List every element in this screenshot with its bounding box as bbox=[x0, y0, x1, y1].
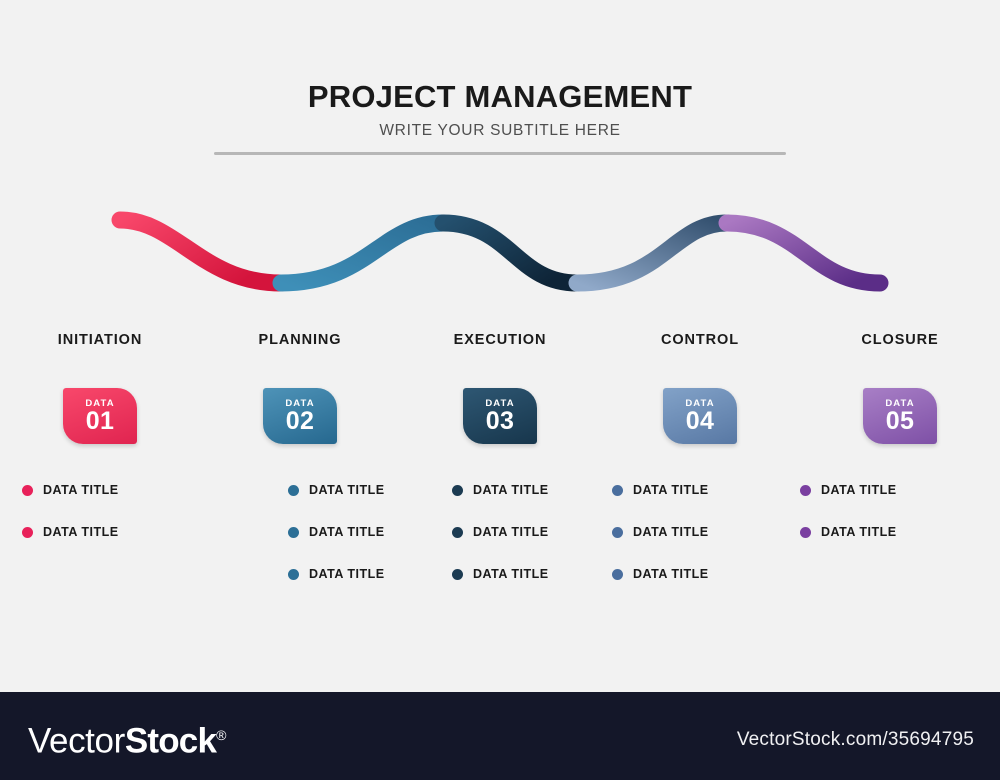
bullet-dot-icon bbox=[452, 569, 463, 580]
list-item[interactable]: DATA TITLE bbox=[288, 553, 385, 595]
stage-column-planning: PLANNING DATA 02 DATA TITLE DATA TITLE D… bbox=[200, 330, 400, 595]
list-item[interactable]: DATA TITLE bbox=[288, 469, 385, 511]
wave-timeline bbox=[0, 190, 1000, 320]
wave-svg bbox=[0, 190, 1000, 320]
card-number: 04 bbox=[686, 408, 715, 435]
bullet-dot-icon bbox=[22, 485, 33, 496]
stage-bullet-list: DATA TITLE DATA TITLE bbox=[0, 469, 200, 553]
stage-label: EXECUTION bbox=[454, 330, 547, 350]
vectorstock-logo: VectorStock® bbox=[28, 714, 226, 763]
list-item[interactable]: DATA TITLE bbox=[800, 511, 897, 553]
wave-segment-execution bbox=[443, 223, 577, 283]
stage-column-closure: CLOSURE DATA 05 DATA TITLE DATA TITLE bbox=[800, 330, 1000, 595]
list-item-label: DATA TITLE bbox=[309, 525, 385, 539]
stage-card[interactable]: DATA 01 bbox=[63, 388, 137, 444]
list-item[interactable]: DATA TITLE bbox=[452, 553, 549, 595]
stage-columns: INITIATION DATA 01 DATA TITLE DATA TITLE… bbox=[0, 330, 1000, 595]
list-item-label: DATA TITLE bbox=[473, 567, 549, 581]
list-item[interactable]: DATA TITLE bbox=[800, 469, 897, 511]
card-number: 02 bbox=[286, 408, 315, 435]
stage-column-initiation: INITIATION DATA 01 DATA TITLE DATA TITLE bbox=[0, 330, 200, 595]
stage-label: CONTROL bbox=[661, 330, 739, 350]
header: PROJECT MANAGEMENT WRITE YOUR SUBTITLE H… bbox=[0, 78, 1000, 142]
card-number: 01 bbox=[86, 408, 115, 435]
card-number: 05 bbox=[886, 408, 915, 435]
wave-segment-control bbox=[577, 223, 727, 283]
stage-card[interactable]: DATA 02 bbox=[263, 388, 337, 444]
list-item[interactable]: DATA TITLE bbox=[22, 511, 119, 553]
stage-label: CLOSURE bbox=[861, 330, 938, 350]
bullet-dot-icon bbox=[22, 527, 33, 538]
page-subtitle: WRITE YOUR SUBTITLE HERE bbox=[0, 120, 1000, 142]
list-item-label: DATA TITLE bbox=[473, 525, 549, 539]
wave-segment-initiation bbox=[120, 220, 281, 283]
stage-card[interactable]: DATA 04 bbox=[663, 388, 737, 444]
list-item[interactable]: DATA TITLE bbox=[22, 469, 119, 511]
list-item[interactable]: DATA TITLE bbox=[612, 469, 709, 511]
list-item-label: DATA TITLE bbox=[633, 483, 709, 497]
list-item-label: DATA TITLE bbox=[473, 483, 549, 497]
list-item-label: DATA TITLE bbox=[633, 525, 709, 539]
stage-bullet-list: DATA TITLE DATA TITLE DATA TITLE bbox=[200, 469, 400, 595]
stage-bullet-list: DATA TITLE DATA TITLE DATA TITLE bbox=[400, 469, 600, 595]
stage-column-execution: EXECUTION DATA 03 DATA TITLE DATA TITLE … bbox=[400, 330, 600, 595]
stage-label: PLANNING bbox=[259, 330, 342, 350]
watermark-footer: VectorStock® VectorStock.com/35694795 bbox=[0, 692, 1000, 780]
bullet-dot-icon bbox=[452, 485, 463, 496]
stage-card[interactable]: DATA 03 bbox=[463, 388, 537, 444]
bullet-dot-icon bbox=[800, 527, 811, 538]
stage-column-control: CONTROL DATA 04 DATA TITLE DATA TITLE DA… bbox=[600, 330, 800, 595]
logo-text-bold: Stock bbox=[125, 722, 216, 761]
watermark-url: VectorStock.com/35694795 bbox=[737, 728, 974, 752]
list-item-label: DATA TITLE bbox=[821, 483, 897, 497]
list-item[interactable]: DATA TITLE bbox=[612, 511, 709, 553]
stage-bullet-list: DATA TITLE DATA TITLE DATA TITLE bbox=[600, 469, 800, 595]
bullet-dot-icon bbox=[288, 527, 299, 538]
bullet-dot-icon bbox=[612, 527, 623, 538]
list-item[interactable]: DATA TITLE bbox=[452, 469, 549, 511]
bullet-dot-icon bbox=[288, 485, 299, 496]
list-item-label: DATA TITLE bbox=[309, 483, 385, 497]
wave-segment-planning bbox=[281, 223, 443, 283]
infographic-canvas: PROJECT MANAGEMENT WRITE YOUR SUBTITLE H… bbox=[0, 0, 1000, 692]
logo-text-thin: Vector bbox=[28, 722, 125, 761]
list-item[interactable]: DATA TITLE bbox=[612, 553, 709, 595]
list-item[interactable]: DATA TITLE bbox=[452, 511, 549, 553]
bullet-dot-icon bbox=[612, 485, 623, 496]
list-item-label: DATA TITLE bbox=[821, 525, 897, 539]
list-item-label: DATA TITLE bbox=[633, 567, 709, 581]
bullet-dot-icon bbox=[800, 485, 811, 496]
page-title: PROJECT MANAGEMENT bbox=[0, 78, 1000, 116]
stage-card[interactable]: DATA 05 bbox=[863, 388, 937, 444]
list-item[interactable]: DATA TITLE bbox=[288, 511, 385, 553]
registered-mark-icon: ® bbox=[216, 727, 226, 743]
list-item-label: DATA TITLE bbox=[43, 483, 119, 497]
bullet-dot-icon bbox=[452, 527, 463, 538]
wave-segment-closure bbox=[727, 223, 880, 283]
bullet-dot-icon bbox=[612, 569, 623, 580]
list-item-label: DATA TITLE bbox=[43, 525, 119, 539]
card-number: 03 bbox=[486, 408, 515, 435]
stage-label: INITIATION bbox=[58, 330, 142, 350]
list-item-label: DATA TITLE bbox=[309, 567, 385, 581]
header-divider bbox=[214, 152, 786, 155]
stage-bullet-list: DATA TITLE DATA TITLE bbox=[800, 469, 1000, 553]
bullet-dot-icon bbox=[288, 569, 299, 580]
